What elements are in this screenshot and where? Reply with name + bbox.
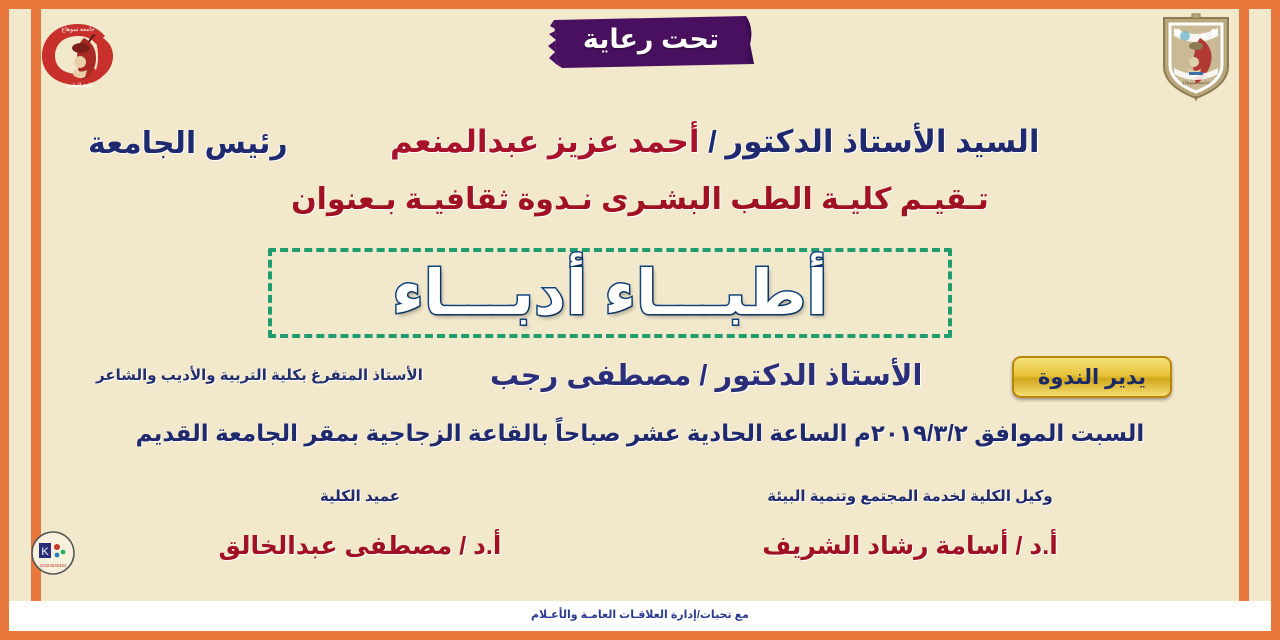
svg-text:K: K xyxy=(41,546,49,558)
svg-text:01024545452: 01024545452 xyxy=(40,563,67,568)
signature-vice-dean-name: أ.د / أسامة رشاد الشريف xyxy=(700,531,1120,561)
press-office-stamp-logo-icon: K 01024545452 xyxy=(30,530,76,576)
signature-dean-title: عميد الكلية xyxy=(150,487,570,505)
patron-separator: / xyxy=(708,124,717,159)
datetime-venue-line: السبت الموافق ٢٠١٩/٣/٢م الساعة الحادية ع… xyxy=(0,420,1280,447)
event-title: أطبـــاء أدبـــاء xyxy=(268,252,952,336)
footer-credit: مع تحيات/إدارة العلاقـات العامـة والأعـل… xyxy=(0,608,1280,621)
svg-text:جامعة سوهاج: جامعة سوهاج xyxy=(61,26,95,33)
patronage-ribbon-label: تحت رعاية xyxy=(540,24,762,55)
signature-dean-name: أ.د / مصطفى عبدالخالق xyxy=(150,531,570,561)
moderator-badge-label: يدير الندوة xyxy=(1012,365,1172,390)
moderator-subtitle: الأستاذ المتفرغ بكلية التربية والأديب وا… xyxy=(96,366,423,384)
president-title: رئيس الجامعة xyxy=(88,126,288,161)
signature-vice-dean-title: وكيل الكلية لخدمة المجتمع وتنمية البيئة xyxy=(700,487,1120,505)
svg-text:جامعة سوهاج: جامعة سوهاج xyxy=(1182,80,1210,86)
organizer-line: تـقيـم كليـة الطب البشـرى نـدوة ثقافيـة … xyxy=(0,182,1280,217)
signature-dean: عميد الكلية أ.د / مصطفى عبدالخالق xyxy=(150,487,570,561)
signature-vice-dean: وكيل الكلية لخدمة المجتمع وتنمية البيئة … xyxy=(700,487,1120,561)
event-poster: جامعة سوهاج كلية الطب جامعة سوهاج xyxy=(0,0,1280,640)
patron-line: السيد الأستاذ الدكتور / أحمد عزيز عبدالم… xyxy=(390,124,1040,160)
moderator-name: الأستاذ الدكتور / مصطفى رجب xyxy=(490,358,922,393)
patron-name: أحمد عزيز عبدالمنعم xyxy=(390,124,700,159)
patron-prefix: السيد الأستاذ الدكتور xyxy=(725,124,1039,159)
svg-text:كلية الطب: كلية الطب xyxy=(67,82,93,89)
university-crest-logo-icon: جامعة سوهاج xyxy=(1156,10,1236,102)
faculty-of-medicine-logo-icon: جامعة سوهاج كلية الطب xyxy=(34,18,122,90)
